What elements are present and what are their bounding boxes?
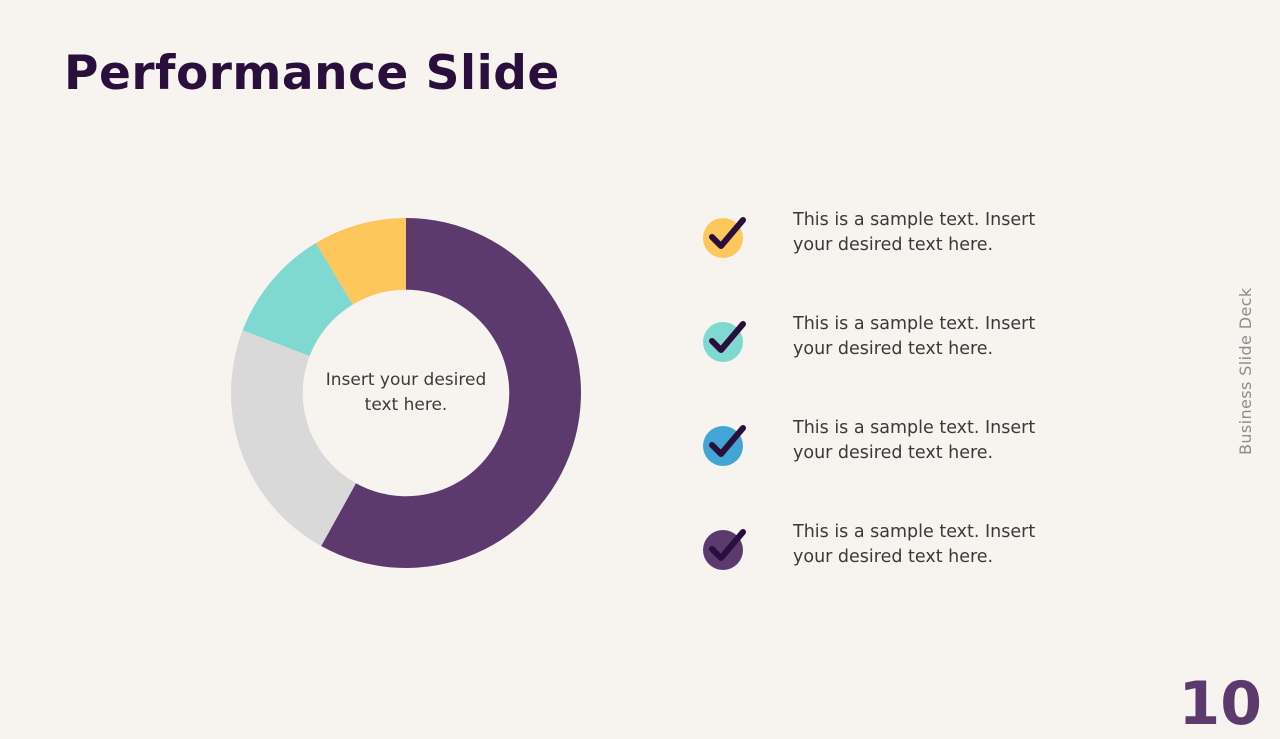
check-circle-icon: [703, 212, 749, 258]
donut-slice[interactable]: [231, 330, 356, 546]
check-mark-icon: [703, 524, 749, 570]
slide-canvas: Performance Slide Insert your desired te…: [0, 0, 1280, 720]
check-circle-icon: [703, 316, 749, 362]
list-item-label: This is a sample text. Insert your desir…: [793, 208, 1053, 258]
check-mark-icon: [703, 316, 749, 362]
list-item-label: This is a sample text. Insert your desir…: [793, 312, 1053, 362]
donut-chart[interactable]: Insert your desired text here.: [231, 218, 581, 568]
page-number: 10: [1179, 674, 1263, 734]
list-item[interactable]: This is a sample text. Insert your desir…: [703, 416, 1093, 520]
check-mark-icon: [703, 212, 749, 258]
list-item-label: This is a sample text. Insert your desir…: [793, 416, 1053, 466]
bullet-list: This is a sample text. Insert your desir…: [703, 208, 1093, 624]
check-circle-icon: [703, 524, 749, 570]
list-item[interactable]: This is a sample text. Insert your desir…: [703, 312, 1093, 416]
deck-side-label-text: Business Slide Deck: [1236, 287, 1255, 455]
list-item[interactable]: This is a sample text. Insert your desir…: [703, 208, 1093, 312]
deck-side-label: Business Slide Deck: [1218, 265, 1240, 455]
page-title: Performance Slide: [64, 46, 560, 101]
list-item-label: This is a sample text. Insert your desir…: [793, 520, 1053, 570]
donut-chart-svg: [231, 218, 581, 568]
check-circle-icon: [703, 420, 749, 466]
list-item[interactable]: This is a sample text. Insert your desir…: [703, 520, 1093, 624]
check-mark-icon: [703, 420, 749, 466]
